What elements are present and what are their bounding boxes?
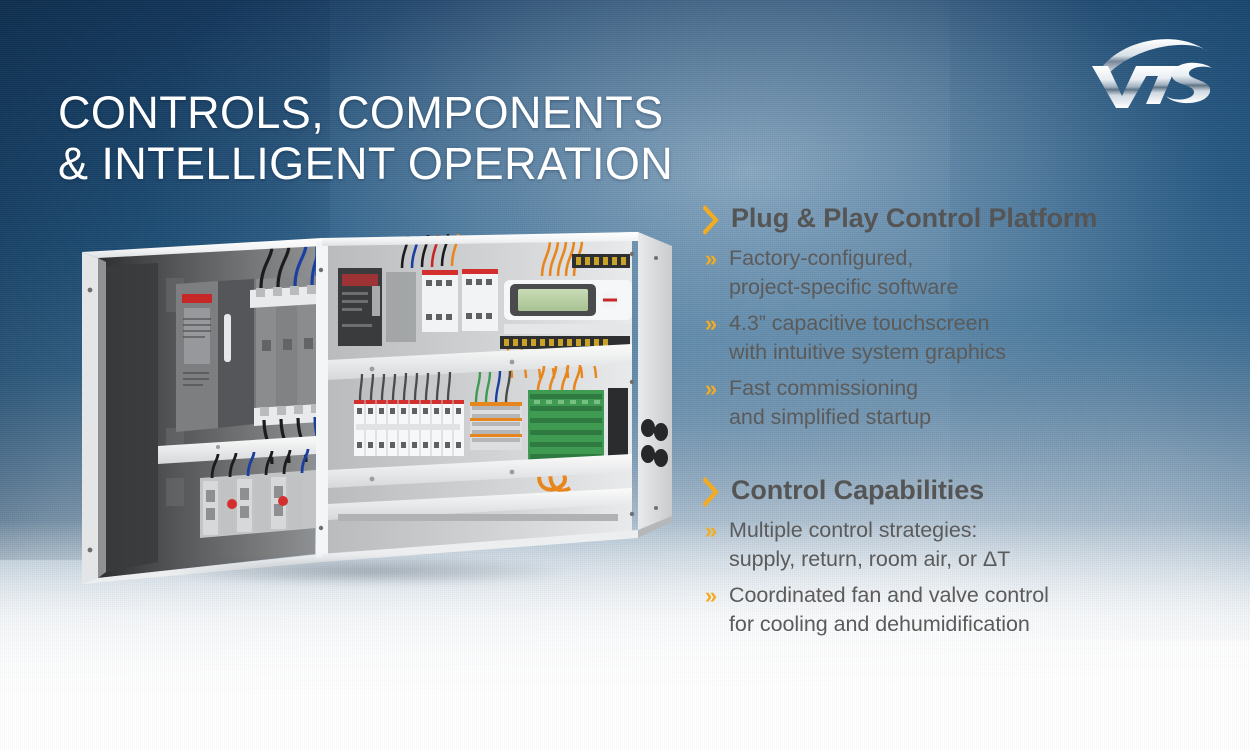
plc-controller-display xyxy=(504,280,632,320)
double-angle-icon: » xyxy=(703,581,719,610)
slide-root: CONTROLS, COMPONENTS & INTELLIGENT OPERA… xyxy=(0,0,1250,750)
bullet-list: » Multiple control strategies: supply, r… xyxy=(703,516,1233,639)
cabinet-drop-shadow xyxy=(86,550,646,592)
lcd-screen xyxy=(518,289,588,311)
list-item: » 4.3” capacitive touchscreen with intui… xyxy=(703,309,1233,367)
contactor-row xyxy=(200,470,316,538)
contactor-reset-button xyxy=(227,499,237,509)
left-interior-recess xyxy=(106,263,158,572)
bullet-text: Factory-configured, project-specific sof… xyxy=(729,244,958,302)
section-heading: Plug & Play Control Platform xyxy=(731,202,1097,234)
circuit-breaker-row xyxy=(354,400,464,456)
vfd-brand-label xyxy=(182,294,212,303)
bullet-text: Coordinated fan and valve control for co… xyxy=(729,581,1049,639)
bullet-text: 4.3” capacitive touchscreen with intuiti… xyxy=(729,309,1006,367)
section-heading-row: Control Capabilities xyxy=(703,474,1233,507)
chevron-right-icon xyxy=(703,205,720,235)
vfd-handle xyxy=(224,314,231,362)
section-control-capabilities: Control Capabilities » Multiple control … xyxy=(703,474,1233,639)
section-heading: Control Capabilities xyxy=(731,474,984,506)
chevron-right-icon xyxy=(703,477,720,507)
slide-title-line-1: CONTROLS, COMPONENTS xyxy=(58,87,664,138)
cabinet-center-post xyxy=(316,241,328,558)
list-item: » Factory-configured, project-specific s… xyxy=(703,244,1233,302)
controller-base-rail xyxy=(504,324,632,334)
double-angle-icon: » xyxy=(703,244,719,273)
grey-terminal-blocks xyxy=(470,402,522,450)
cabinet-frame-left xyxy=(82,252,98,584)
transformer-block xyxy=(386,272,416,342)
cabinet-side-panel xyxy=(638,232,672,538)
contactor-reset-button xyxy=(278,496,288,506)
double-angle-icon: » xyxy=(703,309,719,338)
list-item: » Coordinated fan and valve control for … xyxy=(703,581,1233,639)
bullet-text: Multiple control strategies: supply, ret… xyxy=(729,516,1010,574)
plc-power-module xyxy=(338,268,382,346)
list-item: » Multiple control strategies: supply, r… xyxy=(703,516,1233,574)
variable-frequency-drive xyxy=(176,279,254,432)
section-plug-and-play: Plug & Play Control Platform » Factory-c… xyxy=(703,202,1233,432)
top-terminal-block xyxy=(250,285,318,308)
double-angle-icon: » xyxy=(703,374,719,403)
bottom-perforation-strip xyxy=(338,514,618,521)
slide-title-line-2: & INTELLIGENT OPERATION xyxy=(58,138,758,189)
control-cabinet-image xyxy=(72,232,672,607)
slide-title: CONTROLS, COMPONENTS & INTELLIGENT OPERA… xyxy=(58,87,758,189)
content-column: Plug & Play Control Platform » Factory-c… xyxy=(703,202,1233,659)
double-angle-icon: » xyxy=(703,516,719,545)
bullet-text: Fast commissioning and simplified startu… xyxy=(729,374,931,432)
list-item: » Fast commissioning and simplified star… xyxy=(703,374,1233,432)
bullet-list: » Factory-configured, project-specific s… xyxy=(703,244,1233,432)
section-heading-row: Plug & Play Control Platform xyxy=(703,202,1233,235)
vts-logo xyxy=(1082,26,1222,108)
